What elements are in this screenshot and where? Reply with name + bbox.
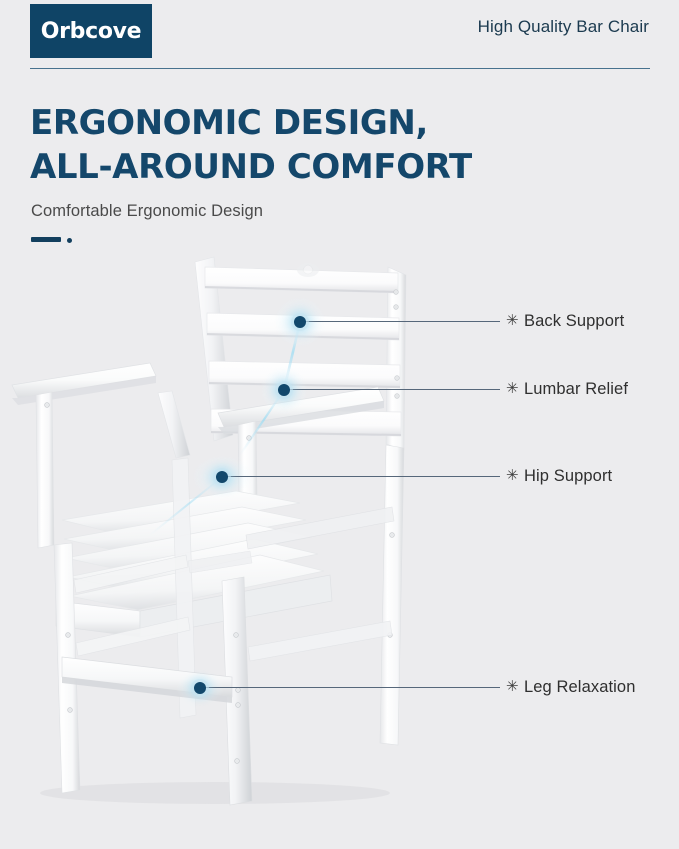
callout-hip-support: ✳Hip Support: [222, 467, 679, 487]
callout-line: [200, 687, 500, 688]
callout-leg-relaxation: ✳Leg Relaxation: [200, 678, 679, 698]
callout-bullet-icon: ✳: [506, 466, 519, 486]
callout-label: Leg Relaxation: [524, 676, 635, 698]
page-subtitle: Comfortable Ergonomic Design: [31, 202, 263, 221]
callout-bullet-icon: ✳: [506, 311, 519, 331]
page-headline: ERGONOMIC DESIGN, ALL-AROUND COMFORT: [30, 101, 472, 189]
callout-dot: [194, 682, 206, 694]
headline-line-2: ALL-AROUND COMFORT: [30, 145, 472, 189]
decorative-bar: [31, 237, 61, 242]
callout-dot: [216, 471, 228, 483]
callout-label: Hip Support: [524, 465, 612, 487]
callout-line: [300, 321, 500, 322]
callout-lumbar-relief: ✳Lumbar Relief: [284, 380, 679, 400]
callout-label: Back Support: [524, 310, 624, 332]
callout-dot: [294, 316, 306, 328]
callout-line: [222, 476, 500, 477]
headline-line-1: ERGONOMIC DESIGN,: [30, 103, 428, 143]
callout-label: Lumbar Relief: [524, 378, 628, 400]
decorative-dash-dot: [31, 236, 77, 244]
callout-bullet-icon: ✳: [506, 677, 519, 697]
decorative-dot: [67, 238, 72, 243]
header: Orbcove High Quality Bar Chair: [0, 0, 679, 80]
callout-back-support: ✳Back Support: [300, 312, 679, 332]
infographic-page: Orbcove High Quality Bar Chair ERGONOMIC…: [0, 0, 679, 849]
chair-medallion-icon: [297, 263, 319, 277]
header-product-title: High Quality Bar Chair: [478, 17, 649, 37]
callout-bullet-icon: ✳: [506, 379, 519, 399]
header-divider: [30, 68, 650, 69]
callout-line: [284, 389, 500, 390]
brand-logo: Orbcove: [30, 4, 152, 58]
callout-dot: [278, 384, 290, 396]
brand-logo-text: Orbcove: [41, 19, 142, 44]
